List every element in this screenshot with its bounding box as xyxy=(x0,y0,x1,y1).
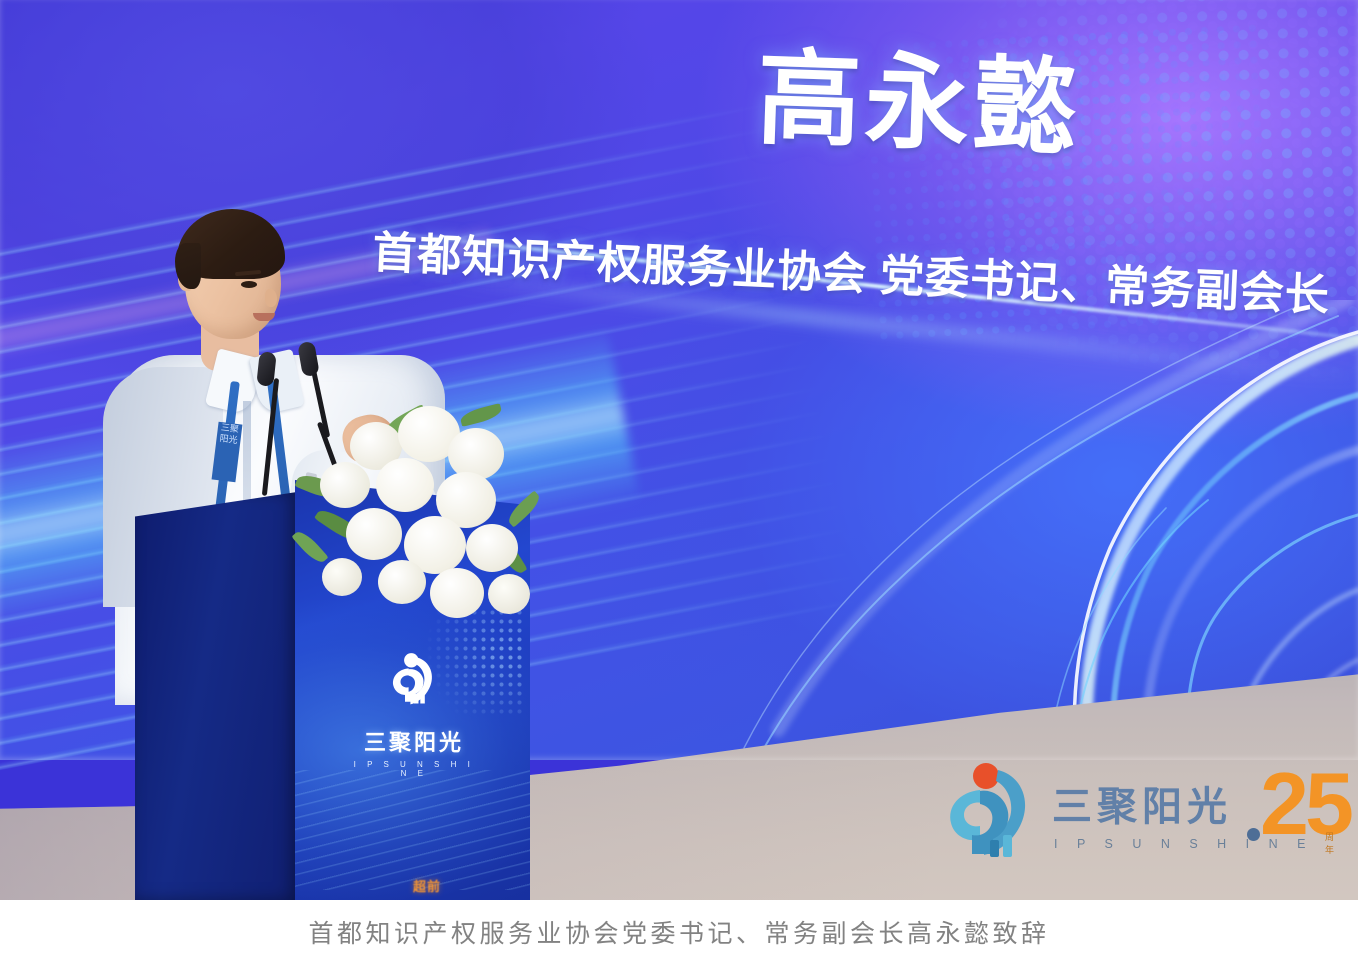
podium-logo-en: I P S U N S H I N E xyxy=(351,760,477,778)
flower-bloom xyxy=(430,568,484,618)
speaker-mouth xyxy=(253,313,275,321)
flower-bloom xyxy=(322,558,362,596)
flower-bloom xyxy=(378,560,426,604)
brand-lockup-bottom-right: 三聚阳光 I P S U N S H I N E 25 周年 xyxy=(940,752,1320,872)
anniversary-number: 25 xyxy=(1260,760,1350,848)
podium-brand-logo: 三聚阳光 I P S U N S H I N E xyxy=(351,652,477,778)
anniversary-label: 周年 xyxy=(1325,830,1335,856)
ipsunshine-logo-mark-white xyxy=(387,652,441,710)
ipsunshine-logo-mark xyxy=(940,760,1040,860)
led-speaker-name: 高永懿 xyxy=(755,47,1082,162)
flower-bloom xyxy=(488,574,530,614)
flower-bloom xyxy=(466,524,518,572)
foliage xyxy=(291,527,328,566)
speaker-eye xyxy=(241,281,257,288)
event-photograph: 高永懿 首都知识产权服务业协会 党委书记、常务副会长 三聚阳光 xyxy=(0,0,1358,900)
flower-bloom xyxy=(376,458,434,512)
flower-bloom xyxy=(486,454,536,502)
podium-logo-cn: 三聚阳光 xyxy=(351,725,477,757)
caption-bar: 首都知识产权服务业协会党委书记、常务副会长高永懿致辞 xyxy=(0,900,1358,964)
podium-bottom-text: 超前 xyxy=(413,876,441,895)
flower-arrangement xyxy=(290,400,560,660)
photo-caption: 首都知识产权服务业协会党委书记、常务副会长高永懿致辞 xyxy=(308,914,1049,950)
flower-bloom xyxy=(320,462,370,508)
flower-bloom xyxy=(346,508,402,560)
podium-light-streaks xyxy=(295,770,530,890)
podium-side-panel xyxy=(135,492,297,900)
page-root: 高永懿 首都知识产权服务业协会 党委书记、常务副会长 三聚阳光 xyxy=(0,0,1358,964)
foliage xyxy=(459,403,503,427)
speaker-nose xyxy=(265,289,277,307)
brand-separator-dot xyxy=(1247,828,1260,841)
